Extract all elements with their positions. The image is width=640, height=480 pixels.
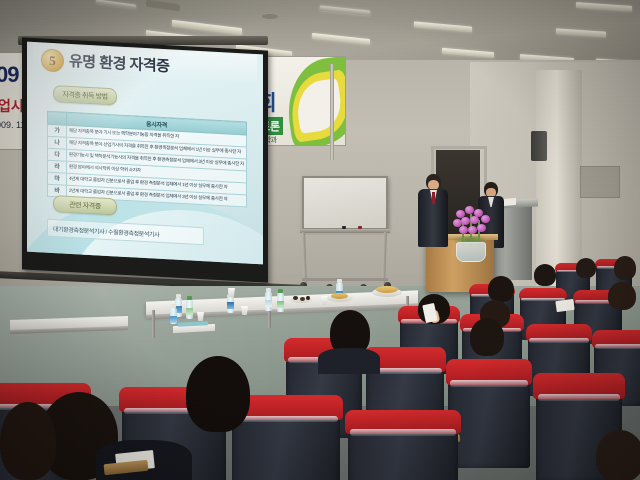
orchid-bloom xyxy=(481,215,490,223)
seat-trim xyxy=(538,394,621,401)
banner-pole xyxy=(330,64,334,160)
slide-section-pill: 자격증 취득 방법 xyxy=(53,85,117,105)
auditorium-seat xyxy=(348,418,458,480)
table-row-key: 나 xyxy=(48,136,67,149)
water-bottle xyxy=(265,292,272,311)
table-row-key: 가 xyxy=(48,124,67,137)
bottle-label xyxy=(170,316,177,323)
wall-panel xyxy=(580,166,620,198)
water-bottle xyxy=(277,293,284,312)
lecture-hall-photo: 09 업시 009. 11. 수회 전략토론 대 환경공학과 5 유명 환경 자… xyxy=(0,0,640,480)
seat-trim xyxy=(595,344,640,349)
seat-trim xyxy=(450,380,529,387)
orchid-bloom xyxy=(465,206,474,214)
whiteboard-marker xyxy=(342,226,346,229)
bottle-cap xyxy=(171,304,176,308)
snack-item xyxy=(293,296,298,300)
orchid-bloom xyxy=(461,217,470,225)
slide-table: 응시자격 가 해당 자격종목 분야 기사 또는 핵학분야기능장 자격을 취득한 … xyxy=(47,111,247,208)
attendee-hair xyxy=(186,356,250,432)
orchid-bloom xyxy=(459,226,468,234)
bottle-cap xyxy=(176,294,181,298)
flower-vase xyxy=(456,242,486,262)
bottle-cap xyxy=(266,288,271,292)
snack-item xyxy=(306,296,310,300)
water-bottle xyxy=(186,300,193,319)
snack-item xyxy=(331,293,348,299)
attendee-shoulders xyxy=(318,348,380,374)
table-row-key: 라 xyxy=(48,160,67,173)
seat-trim xyxy=(350,429,456,436)
whiteboard-crossbar xyxy=(302,278,388,281)
water-bottle xyxy=(170,308,177,324)
table-row-key: 다 xyxy=(48,148,67,161)
bottle-label xyxy=(277,301,284,308)
slide-badge-number: 5 xyxy=(41,48,64,72)
attendee-hair xyxy=(470,318,504,356)
seat-trim xyxy=(529,338,589,343)
left-banner-year: 09 xyxy=(0,62,18,88)
left-banner-red-text: 업시 xyxy=(0,96,24,116)
bottle-label xyxy=(265,300,272,307)
orchid-bloom xyxy=(470,216,479,224)
table-row-key: 마 xyxy=(48,172,67,185)
seat-trim xyxy=(234,416,338,423)
whiteboard-marker-tray xyxy=(300,229,390,233)
bottle-cap xyxy=(187,296,192,300)
whiteboard-marker xyxy=(358,226,362,229)
slide-bottom-pill: 관련 자격증 xyxy=(53,195,117,215)
snack-item xyxy=(300,297,305,301)
bottle-cap xyxy=(337,279,342,283)
table-leg xyxy=(152,310,155,338)
attendee-hair xyxy=(576,258,596,278)
attendee-hair xyxy=(614,256,636,280)
whiteboard xyxy=(302,176,388,230)
presenter-tie xyxy=(432,192,435,204)
attendee-hair xyxy=(488,276,514,302)
projection-screen-frame: 5 유명 환경 자격증 자격증 취득 방법 응시자격 가 해당 자격종목 분야 … xyxy=(22,37,268,282)
slide-table-key-header xyxy=(48,111,67,125)
attendee-hair xyxy=(608,282,636,310)
attendee-hair xyxy=(596,430,640,480)
ceiling-speaker xyxy=(262,14,278,19)
bottle-label xyxy=(227,302,234,309)
bottle-label xyxy=(186,308,193,315)
orchid-bloom xyxy=(477,224,486,232)
bottle-cap xyxy=(278,289,283,293)
projected-slide: 5 유명 환경 자격증 자격증 취득 방법 응시자격 가 해당 자격종목 분야 … xyxy=(27,42,263,265)
wall-speaker-icon xyxy=(531,131,547,161)
attendee-hair xyxy=(0,402,56,480)
snack-item xyxy=(376,286,398,293)
auditorium-seat xyxy=(232,404,340,480)
orchid-bloom xyxy=(468,226,477,234)
attendee-hair xyxy=(534,264,556,286)
